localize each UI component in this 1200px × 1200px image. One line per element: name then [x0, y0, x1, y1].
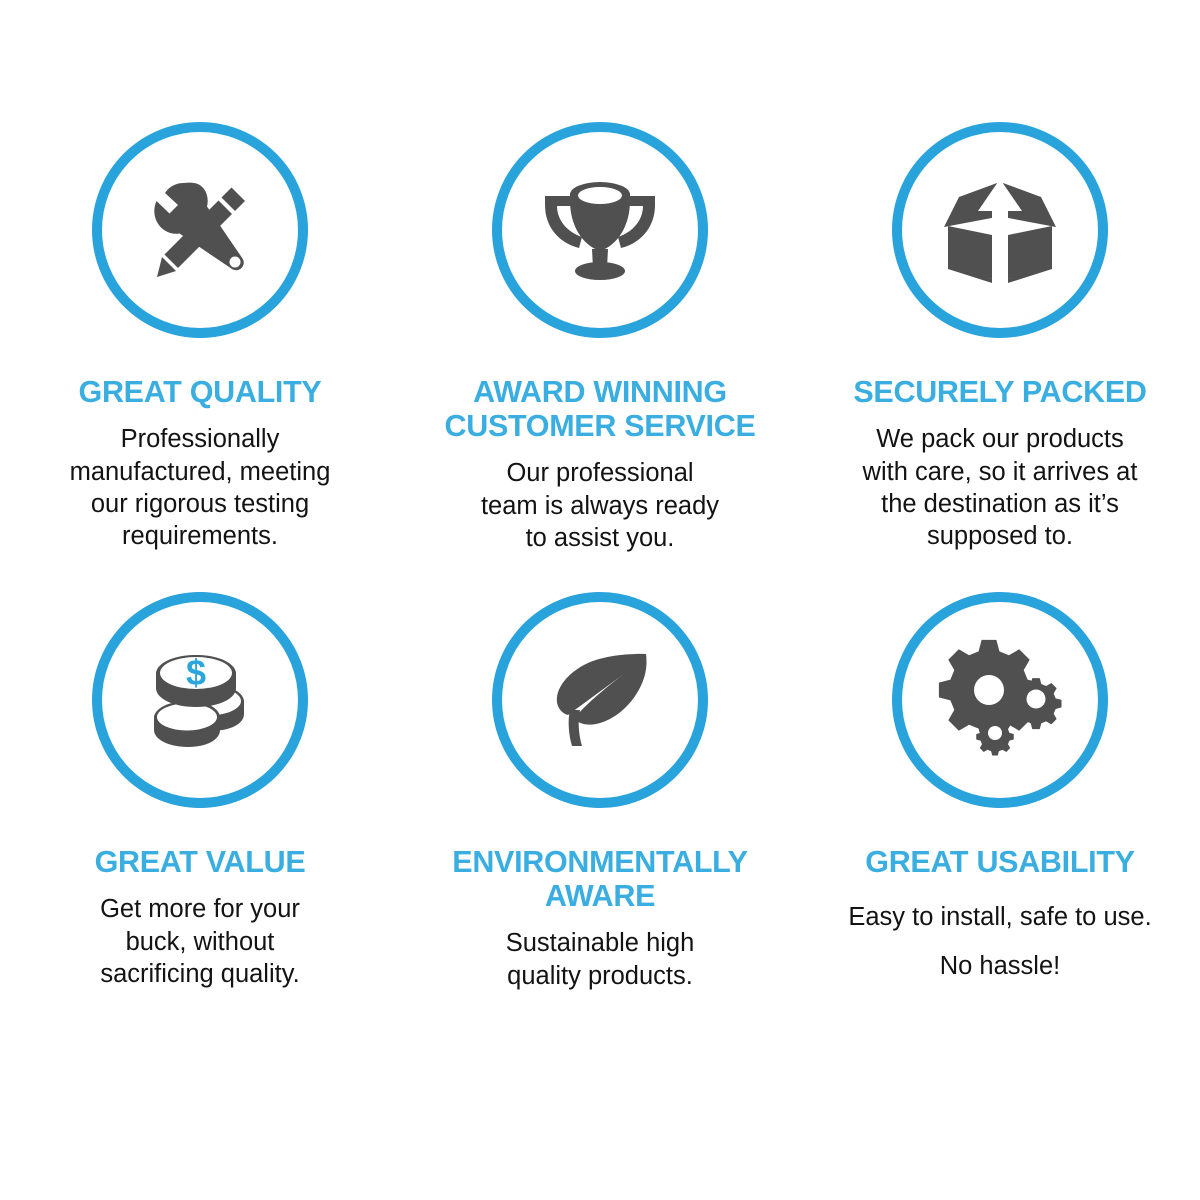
feature-grid: GREAT QUALITY Professionally manufacture…	[0, 0, 1200, 1140]
feature-description: Get more for your buck, without sacrific…	[86, 893, 314, 990]
feature-description: Sustainable high quality products.	[492, 927, 709, 992]
feature-card-securely-packed: SECURELY PACKED We pack our products wit…	[800, 0, 1200, 580]
svg-text:$: $	[186, 652, 206, 693]
feature-card-environmentally-aware: ENVIRONMENTALLY AWARE Sustainable high q…	[400, 580, 800, 1140]
feature-icon-badge	[892, 122, 1108, 338]
trophy-icon	[537, 167, 663, 293]
feature-icon-badge	[92, 122, 308, 338]
feature-title: GREAT VALUE	[89, 845, 312, 879]
feature-description: Professionally manufactured, meeting our…	[56, 423, 345, 553]
feature-description: Our professional team is always ready to…	[467, 457, 733, 554]
gears-icon	[935, 637, 1065, 763]
feature-icon-badge	[492, 122, 708, 338]
feature-highlights-page: GREAT QUALITY Professionally manufacture…	[0, 0, 1200, 1200]
leaf-icon	[540, 640, 660, 760]
open-box-icon	[934, 169, 1066, 291]
feature-title: SECURELY PACKED	[847, 375, 1152, 409]
feature-description: We pack our products with care, so it ar…	[849, 423, 1152, 553]
wrench-pencil-icon	[135, 165, 265, 295]
feature-card-award-winning-customer-service: AWARD WINNING CUSTOMER SERVICE Our profe…	[400, 0, 800, 580]
feature-icon-badge	[892, 592, 1108, 808]
feature-description: Easy to install, safe to use. No hassle!	[834, 893, 1165, 990]
feature-title: AWARD WINNING CUSTOMER SERVICE	[439, 375, 762, 443]
feature-title: ENVIRONMENTALLY AWARE	[446, 845, 753, 913]
feature-title: GREAT QUALITY	[73, 375, 328, 409]
feature-card-great-value: $ GREAT VALUE Get more for your buck, wi…	[0, 580, 400, 1140]
feature-title: GREAT USABILITY	[859, 845, 1140, 879]
coin-stack-dollar-icon: $	[140, 640, 260, 760]
feature-icon-badge	[492, 592, 708, 808]
feature-icon-badge: $	[92, 592, 308, 808]
feature-card-great-quality: GREAT QUALITY Professionally manufacture…	[0, 0, 400, 580]
feature-card-great-usability: GREAT USABILITY Easy to install, safe to…	[800, 580, 1200, 1140]
